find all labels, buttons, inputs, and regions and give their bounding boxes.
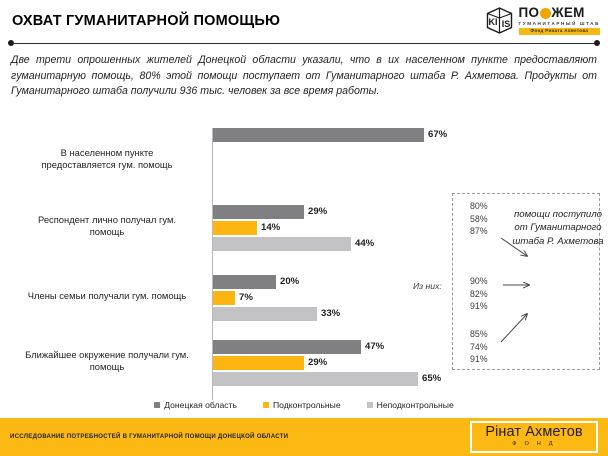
bar-donetsk (213, 340, 361, 354)
bar-controlled (213, 356, 304, 370)
divider-dot-right-icon (594, 40, 600, 46)
svg-text:KI: KI (488, 17, 497, 27)
foundation-logo: Рінат Ахметов Ф О Н Д (470, 421, 598, 453)
pomozhem-logo: KI IS ПОЖЕМ ГУМАНИТАРНЫЙ ШТАБ Фонд Ринат… (485, 6, 600, 35)
bar-value-controlled: 7% (239, 291, 253, 305)
legend-item-controlled[interactable]: Подконтрольные (263, 400, 341, 410)
of-which-label: Из них: (413, 281, 442, 291)
bar-controlled (213, 291, 235, 305)
brand-strip: Фонд Рината Ахметова (519, 28, 600, 34)
bar-value-uncontrolled: 33% (321, 307, 340, 321)
legend-label: Донецкая область (164, 400, 237, 410)
legend-label: Подконтрольные (273, 400, 341, 410)
header-divider (8, 42, 600, 45)
category-label-1: В населенном пункте предоставляется гум.… (8, 147, 206, 172)
page-title: ОХВАТ ГУМАНИТАРНОЙ ПОМОЩЬЮ (12, 13, 280, 29)
bar-uncontrolled (213, 307, 317, 321)
slide: ОХВАТ ГУМАНИТАРНОЙ ПОМОЩЬЮ KI IS ПОЖЕМ Г… (0, 0, 608, 456)
bar-value-uncontrolled: 44% (355, 237, 374, 251)
bar-donetsk (213, 275, 276, 289)
legend-label: Неподконтрольные (377, 400, 454, 410)
bar-value-donetsk: 29% (308, 205, 327, 219)
brand-wordmark-a: ПО (519, 6, 540, 20)
footer-bar: ИССЛЕДОВАНИЕ ПОТРЕБНОСТЕЙ В ГУМАНИТАРНОЙ… (0, 418, 608, 456)
bar-donetsk (213, 128, 424, 142)
foundation-name: Рінат Ахметов (472, 424, 596, 440)
bar-value-controlled: 14% (261, 221, 280, 235)
divider-line (12, 43, 596, 44)
bar-uncontrolled (213, 372, 418, 386)
legend-item-uncontrolled[interactable]: Неподконтрольные (367, 400, 454, 410)
bar-uncontrolled (213, 237, 351, 251)
bar-value-uncontrolled: 65% (422, 372, 441, 386)
brand-subtitle: ГУМАНИТАРНЫЙ ШТАБ (519, 22, 600, 27)
brand-wordmark-b: ЖЕМ (551, 6, 584, 20)
chart-legend: Донецкая область Подконтрольные Неподкон… (0, 400, 608, 410)
legend-swatch-icon (367, 402, 373, 408)
footer-text: ИССЛЕДОВАНИЕ ПОТРЕБНОСТЕЙ В ГУМАНИТАРНОЙ… (10, 433, 288, 440)
callout-text: помощи поступило от Гуманитарного штаба … (512, 208, 604, 248)
bar-controlled (213, 221, 257, 235)
bar-value-donetsk: 47% (365, 340, 384, 354)
category-label-3: Члены семьи получали гум. помощь (8, 290, 206, 302)
brand-dot-icon (540, 8, 551, 19)
legend-item-donetsk[interactable]: Донецкая область (154, 400, 237, 410)
cube-icon: KI IS (485, 6, 514, 35)
bar-value-donetsk: 20% (280, 275, 299, 289)
legend-swatch-icon (154, 402, 160, 408)
foundation-subtitle: Ф О Н Д (472, 441, 596, 447)
category-label-4: Ближайшее окружение получали гум. помощь (8, 349, 206, 374)
bar-value-donetsk: 67% (428, 128, 447, 142)
category-label-2: Респондент лично получал гум. помощь (8, 214, 206, 239)
brand-wordmark: ПОЖЕМ (519, 6, 600, 20)
lead-paragraph: Две трети опрошенных жителей Донецкой об… (11, 53, 597, 100)
legend-swatch-icon (263, 402, 269, 408)
chart-group-1: В населенном пункте предоставляется гум.… (0, 128, 608, 194)
bar-value-controlled: 29% (308, 356, 327, 370)
svg-text:IS: IS (501, 19, 510, 29)
bar-donetsk (213, 205, 304, 219)
